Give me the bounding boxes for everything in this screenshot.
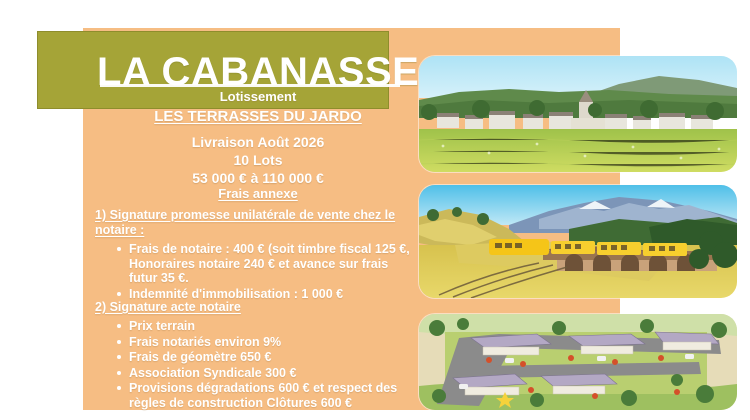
list-item: Indemnité d'immobilisation : 1 000 € xyxy=(117,287,410,302)
list-item: Frais de géomètre 650 € xyxy=(117,350,410,365)
section-heading: 2) Signature acte notaire xyxy=(95,300,410,315)
section-heading: 1) Signature promesse unilatérale de ven… xyxy=(95,208,410,238)
lot-count: 10 Lots xyxy=(83,151,433,169)
photo-village-panorama xyxy=(419,56,737,172)
delivery-info: Livraison Août 2026 10 Lots 53 000 € à 1… xyxy=(83,133,433,187)
list-item: Frais notariés environ 9% xyxy=(117,335,410,350)
subtitle-project-name: LES TERRASSES DU JARDO xyxy=(83,107,433,126)
village-image xyxy=(419,56,737,172)
delivery-date: Livraison Août 2026 xyxy=(83,133,433,151)
list-item: Frais de notaire : 400 € (soit timbre fi… xyxy=(117,242,410,286)
train-image xyxy=(419,185,737,298)
section-bullet-list: Frais de notaire : 400 € (soit timbre fi… xyxy=(95,242,410,301)
list-item: Prix terrain xyxy=(117,319,410,334)
price-range: 53 000 € à 110 000 € xyxy=(83,169,433,187)
plan-masse-image xyxy=(419,314,737,410)
corner-watermark xyxy=(26,404,68,416)
section-promesse: 1) Signature promesse unilatérale de ven… xyxy=(95,208,410,302)
section-bullet-list: Prix terrain Frais notariés environ 9% F… xyxy=(95,319,410,410)
fees-heading: Frais annexe xyxy=(83,186,433,202)
slide-canvas: LA CABANASSE Lotissement LES TERRASSES D… xyxy=(0,0,750,420)
section-acte-notaire: 2) Signature acte notaire Prix terrain F… xyxy=(95,300,410,411)
title-underline-rule xyxy=(100,84,400,87)
subtitle-group: Lotissement LES TERRASSES DU JARDO xyxy=(83,88,433,126)
photo-train-jaune-viaduc xyxy=(419,185,737,298)
photo-plan-masse-lotissement xyxy=(419,314,737,410)
list-item: Provisions dégradations 600 € et respect… xyxy=(117,381,410,410)
subtitle-label: Lotissement xyxy=(83,88,433,105)
list-item: Association Syndicale 300 € xyxy=(117,366,410,381)
